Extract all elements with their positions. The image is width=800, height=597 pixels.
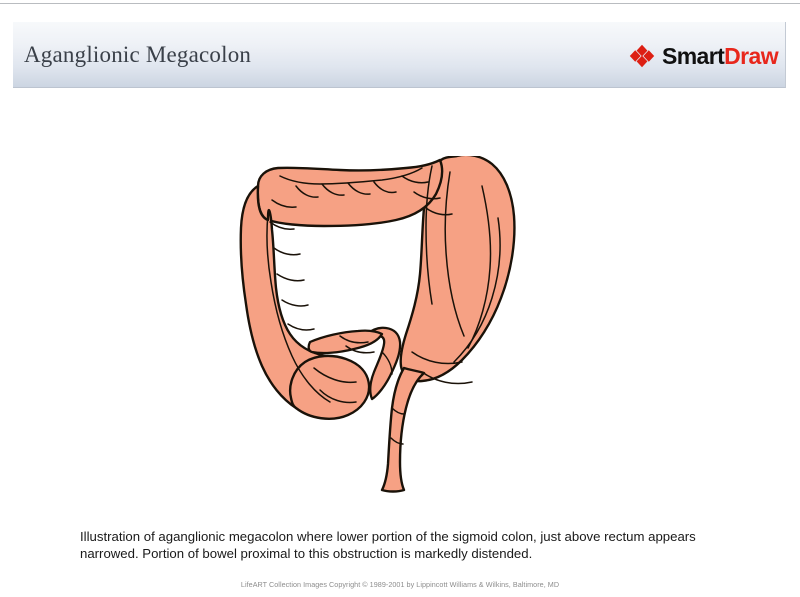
cecum — [290, 356, 369, 419]
smartdraw-diamond-logo-icon — [629, 44, 655, 68]
copyright-credit: LifeART Collection Images Copyright © 19… — [0, 580, 800, 589]
top-divider-rule — [0, 3, 800, 4]
smartdraw-wordmark: SmartDraw — [662, 45, 778, 68]
aganglionic-megacolon-diagram — [236, 156, 546, 506]
smartdraw-logo[interactable]: SmartDraw — [629, 43, 778, 69]
narrowed-rectosigmoid-segment — [382, 368, 424, 492]
logo-word-smart: Smart — [662, 43, 724, 69]
colon-shape-group — [241, 156, 515, 491]
logo-word-draw: Draw — [724, 43, 778, 69]
caption-text: Illustration of aganglionic megacolon wh… — [80, 529, 730, 562]
slide-canvas: Aganglionic Megacolon SmartDraw — [0, 0, 800, 597]
page-title: Aganglionic Megacolon — [24, 42, 251, 68]
ileum-stub — [309, 331, 382, 353]
